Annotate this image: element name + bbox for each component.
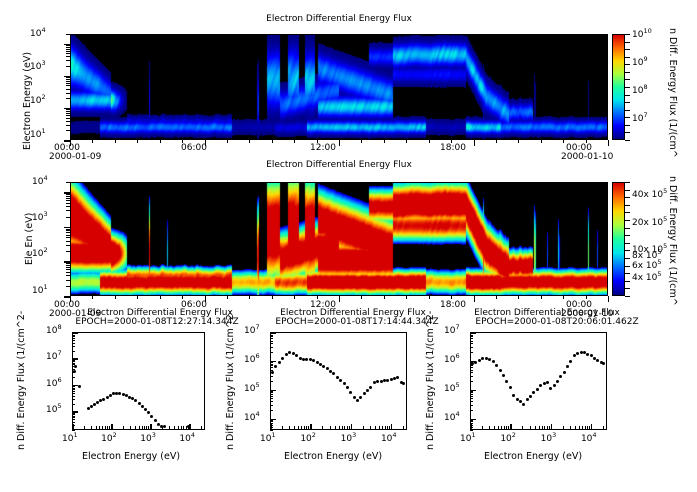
top-panel-ytick	[64, 108, 70, 110]
data-point	[90, 405, 93, 408]
top-panel-yminor-tick	[66, 56, 70, 57]
top-ytick-3: 103	[30, 62, 46, 72]
data-point	[386, 379, 389, 382]
spectrum-2-yminor-tick	[270, 396, 273, 397]
spectrum-3-yminor-tick	[470, 405, 473, 406]
middle-colorbar-tick	[625, 243, 630, 244]
middle-colorbar[interactable]	[612, 182, 625, 296]
middle-panel-yminor-tick	[66, 265, 70, 266]
spectrum-1-yminor-tick	[72, 389, 75, 390]
top-panel-xtick	[160, 140, 161, 143]
spectrum-2-yminor-tick	[270, 420, 273, 421]
middle-panel-xtick	[339, 296, 340, 302]
spectrum-3-xminor-tick	[522, 426, 523, 430]
middle-panel-yminor-tick	[66, 286, 70, 287]
middle-panel-yminor-tick	[66, 272, 70, 273]
spectrum-3-xminor-tick	[494, 426, 495, 430]
spectrum-3-yminor-tick	[470, 333, 473, 334]
top-panel-xtick	[429, 140, 430, 143]
spectrum-3-yminor-tick	[470, 335, 473, 336]
middle-panel-yminor-tick	[66, 206, 70, 207]
top-panel-xtick	[115, 140, 116, 143]
top-panel-xtick	[227, 140, 228, 143]
spectrum-1-yminor-tick	[72, 414, 75, 415]
data-point	[556, 380, 559, 383]
spectrum-3-xminor-tick	[508, 426, 509, 430]
spectrum-3-xminor-tick	[579, 426, 580, 430]
top-panel-yminor-tick	[66, 85, 70, 86]
spectrum-2-ylabel: n Diff. Energy Flux (1/(cm^2-	[225, 311, 236, 450]
middle-panel-xtick	[205, 296, 206, 302]
top-colorbar-tick	[625, 95, 630, 96]
middle-panel-xtick	[294, 296, 295, 299]
top-panel-xtick	[563, 140, 564, 143]
spectrum-3-xminor-tick	[535, 426, 536, 430]
spectrum-3-xminor-tick	[603, 426, 604, 430]
spectrum-2-yminor-tick	[270, 333, 273, 334]
spectrum-1-xminor-tick	[96, 426, 97, 430]
spectrum-3-yminor-tick	[470, 420, 473, 421]
middle-colorbar-tick	[625, 296, 630, 297]
middle-panel-xtick	[160, 296, 161, 299]
top-colorbar-tick	[625, 64, 630, 65]
top-colorbar-tick	[625, 102, 630, 103]
top-panel-xtick	[586, 140, 587, 143]
top-panel-yminor-tick	[66, 81, 70, 82]
middle-colorbar-tick	[625, 190, 630, 191]
middle-panel-xtick	[563, 296, 564, 299]
spectrum-3-xminor-tick	[587, 426, 588, 430]
top-panel-xtick	[317, 140, 318, 143]
middle-panel-xtick	[249, 296, 250, 299]
spectrum-1-yminor-tick	[72, 419, 75, 420]
top-panel-frame	[70, 34, 608, 140]
top-panel-yminor-tick	[66, 49, 70, 50]
middle-colorbar-tick	[625, 228, 630, 229]
spectrum-2-ytick-label: 106	[244, 355, 260, 365]
top-panel-ytick	[64, 76, 70, 78]
middle-panel-yminor-tick	[66, 182, 70, 183]
spectrum-1-xminor-tick	[105, 426, 106, 430]
top-panel-yminor-tick	[66, 47, 70, 48]
middle-colorbar-tick	[625, 235, 630, 236]
data-point	[339, 379, 342, 382]
spectrum-1-xminor-tick	[146, 426, 147, 430]
spectrum-3-xtick	[510, 424, 512, 430]
middle-panel-xtick	[137, 296, 138, 299]
spectrum-2-yminor-tick	[270, 336, 273, 337]
spectrum-3-yminor-tick	[470, 352, 473, 353]
middle-panel-xtick	[115, 296, 116, 299]
spectrum-1-xminor-tick	[99, 426, 100, 430]
data-point	[526, 398, 529, 401]
middle-panel-yminor-tick	[66, 245, 70, 246]
spectrum-3-ytick-label: 106	[444, 355, 460, 365]
spectrum-3-yminor-tick	[470, 394, 473, 395]
spectrum-1-xminor-tick	[178, 426, 179, 430]
top-panel-yminor-tick	[66, 93, 70, 94]
spectrum-3-xminor-tick	[544, 426, 545, 430]
top-panel-yminor-tick	[66, 89, 70, 90]
spectrum-2-yminor-tick	[270, 370, 273, 371]
spectrum-2-xtick-label: 104	[381, 434, 397, 444]
middle-panel-xtick	[406, 296, 407, 299]
top-xtick-3: 18:00	[440, 143, 466, 153]
top-colorbar-label-wrap: n Diff. Energy Flux (1/(cm^	[678, 28, 697, 39]
spectrum-1-yminor-tick	[72, 388, 75, 389]
middle-panel-yminor-tick	[66, 280, 70, 281]
spectrum-2-xtick	[351, 424, 353, 430]
spectrum-3-xminor-tick	[542, 426, 543, 430]
spectrum-3-yminor-tick	[470, 343, 473, 344]
top-cbtick-0: 1010	[632, 30, 652, 40]
spectrum-2-yminor-tick	[270, 365, 273, 366]
middle-panel-frame	[70, 182, 608, 296]
mid-ytick-2: 102	[32, 249, 48, 259]
spectrum-2-xminor-tick	[344, 426, 345, 430]
top-panel-xtick	[406, 140, 407, 143]
spectrum-3-xminor-tick	[582, 426, 583, 430]
spectrum-1-xminor-tick	[201, 426, 202, 430]
top-colorbar-label: n Diff. Energy Flux (1/(cm^	[667, 28, 678, 158]
top-panel-xtick	[384, 140, 385, 143]
spectrum-1-yminor-tick	[72, 360, 75, 361]
data-point	[326, 367, 329, 370]
spectrum-1-ytick-label: 105	[46, 405, 62, 415]
middle-panel-xtick	[451, 296, 452, 299]
spectrum-2-yminor-tick	[270, 338, 273, 339]
spectrum-2-xminor-tick	[389, 426, 390, 430]
spectrum-2-ytick-label: 107	[244, 326, 260, 336]
spectrum-3-ylabel: n Diff. Energy Flux (1/(cm^2-	[425, 311, 436, 450]
data-point	[343, 382, 346, 385]
spectrum-1-yminor-tick	[72, 393, 75, 394]
spectrum-1-xminor-tick	[162, 426, 163, 430]
top-colorbar-tick	[625, 110, 630, 111]
top-ytick-4: 104	[30, 29, 46, 39]
top-panel-yminor-tick	[66, 79, 70, 80]
spectrum-3-xminor-tick	[570, 426, 571, 430]
spectrum-2-yminor-tick	[270, 405, 273, 406]
spectrum-2-xminor-tick	[375, 426, 376, 430]
spectrum-3-xminor-tick	[589, 426, 590, 430]
spectrum-3-xminor-tick	[501, 426, 502, 430]
middle-panel-yminor-tick	[66, 267, 70, 268]
top-colorbar-tick	[625, 57, 630, 58]
spectrum-2-yminor-tick	[270, 394, 273, 395]
top-colorbar-tick	[625, 87, 630, 88]
data-point	[509, 386, 512, 389]
spectrum-3-yminor-tick	[470, 338, 473, 339]
data-point	[553, 384, 556, 387]
spectrum-2-xtick	[270, 424, 272, 430]
spectrum-2-xtick-label: 101	[260, 434, 276, 444]
middle-panel-yminor-tick	[66, 198, 70, 199]
middle-panel-title: Electron Differential Energy Flux	[70, 160, 608, 170]
middle-colorbar-tick	[625, 273, 630, 274]
spectrum-2-yminor-tick	[270, 341, 273, 342]
top-panel-xtick	[249, 140, 250, 143]
data-point	[144, 408, 147, 411]
spectrum-2-xminor-tick	[289, 426, 290, 430]
data-point	[478, 359, 481, 362]
top-colorbar-tick	[625, 34, 630, 35]
top-panel-yminor-tick	[66, 98, 70, 99]
spectrum-3-yminor-tick	[470, 398, 473, 399]
spectrum-3-yminor-tick	[470, 365, 473, 366]
middle-panel-yminor-tick	[66, 275, 70, 276]
top-panel-yminor-tick	[66, 66, 70, 67]
spectrum-3-xtick	[470, 424, 472, 430]
spectrum-3-xtick-label: 103	[541, 434, 557, 444]
spectrum-2-xminor-tick	[363, 426, 364, 430]
spectrum-2-xminor-tick	[335, 426, 336, 430]
middle-panel-ytick	[64, 192, 70, 194]
middle-colorbar-tick	[625, 182, 630, 183]
spectrum-2-xminor-tick	[379, 426, 380, 430]
spectrum-3-xminor-tick	[539, 426, 540, 430]
spectrum-1-plot-area[interactable]	[72, 332, 205, 430]
spectrum-3-yminor-tick	[470, 336, 473, 337]
top-colorbar-tick	[625, 42, 630, 43]
spectrum-3-yminor-tick	[470, 367, 473, 368]
spectrum-3-xminor-tick	[482, 426, 483, 430]
data-point	[346, 386, 349, 389]
spectrum-3-yminor-tick	[470, 362, 473, 363]
spectrum-3-ytick-label: 105	[444, 384, 460, 394]
spectrum-2-xminor-tick	[370, 426, 371, 430]
top-panel-xtick	[294, 140, 295, 143]
top-panel-yminor-tick	[66, 121, 70, 122]
spectrum-2-xminor-tick	[301, 426, 302, 430]
middle-panel-yminor-tick	[66, 241, 70, 242]
top-panel-yminor-tick	[66, 83, 70, 84]
spectrum-1-yminor-tick	[72, 422, 75, 423]
spectrum-1-yminor-tick	[72, 417, 75, 418]
data-point	[278, 361, 281, 364]
spectrum-1-xminor-tick	[174, 426, 175, 430]
top-panel-xtick	[339, 140, 340, 146]
spectrum-3-yminor-tick	[470, 381, 473, 382]
spectrum-3-yminor-tick	[470, 341, 473, 342]
middle-panel-yminor-tick	[66, 229, 70, 230]
data-point	[87, 407, 90, 410]
spectrum-2-yminor-tick	[270, 391, 273, 392]
spectrum-3-xminor-tick	[530, 426, 531, 430]
top-cbtick-3: 107	[632, 114, 648, 124]
middle-colorbar-tick	[625, 250, 630, 251]
middle-colorbar-label: n Diff. Energy Flux (1/(cm^	[667, 176, 678, 306]
middle-panel-yminor-tick	[66, 203, 70, 204]
spectrum-1-xminor-tick	[107, 426, 108, 430]
middle-panel-yminor-tick	[66, 237, 70, 238]
top-cbtick-1: 109	[632, 58, 648, 68]
spectrum-1-xminor-tick	[84, 426, 85, 430]
spectrum-1-xtick-label: 102	[101, 434, 117, 444]
spectrum-1-xminor-tick	[130, 426, 131, 430]
spectrum-3-xminor-tick	[506, 426, 507, 430]
spectrum-3-yminor-tick	[470, 410, 473, 411]
spectrum-2-yminor-tick	[270, 335, 273, 336]
spectrum-2-xminor-tick	[298, 426, 299, 430]
top-colorbar-tick	[625, 125, 630, 126]
mid-ytick-1: 101	[32, 286, 48, 296]
spectrum-3-xminor-tick	[549, 426, 550, 430]
spectrum-3-yminor-tick	[470, 396, 473, 397]
spectrum-1-xtick-label: 104	[179, 434, 195, 444]
middle-panel-xtick	[541, 296, 542, 299]
spectrum-3-xminor-tick	[504, 426, 505, 430]
spectrum-2-ytick-label: 104	[244, 413, 260, 423]
middle-colorbar-label-wrap: n Diff. Energy Flux (1/(cm^	[678, 176, 697, 187]
spectrum-1-xminor-tick	[169, 426, 170, 430]
top-colorbar-tick	[625, 132, 630, 133]
top-ytick-1: 101	[30, 130, 46, 140]
middle-panel-xtick	[70, 296, 71, 302]
spectrum-3-epoch: EPOCH=2000-01-08T20:06:01.462Z	[462, 317, 652, 327]
top-panel-xtick	[474, 140, 475, 146]
spectrum-1-yminor-tick	[72, 363, 75, 364]
spectrum-2-xtick-label: 103	[341, 434, 357, 444]
middle-colorbar-tick	[625, 220, 630, 221]
spectrum-2-xminor-tick	[322, 426, 323, 430]
data-point	[563, 371, 566, 374]
spectrum-1-ylabel: n Diff. Energy Flux (1/(cm^2-	[16, 311, 27, 450]
top-panel-xtick	[361, 140, 362, 143]
spectrum-1-epoch: EPOCH=2000-01-08T12:27:14.344Z	[62, 317, 252, 327]
middle-panel-yminor-tick	[66, 196, 70, 197]
spectrum-3-xminor-tick	[547, 426, 548, 430]
middle-panel-xtick	[227, 296, 228, 299]
spectrum-1-xminor-tick	[102, 426, 103, 430]
spectrum-1-xtick	[150, 424, 152, 430]
top-panel-xtick	[70, 140, 71, 146]
top-colorbar-tick	[625, 79, 630, 80]
data-point	[499, 369, 502, 372]
data-point	[138, 402, 141, 405]
mid-cbtick-0: 40x 105	[632, 190, 667, 200]
middle-panel-xtick	[92, 296, 93, 299]
spectrum-1-xminor-tick	[135, 426, 136, 430]
spectrum-1-ylabel-wrap: n Diff. Energy Flux (1/(cm^2-	[16, 450, 155, 461]
middle-panel-ytick	[64, 261, 70, 263]
spectrum-1-yminor-tick	[72, 336, 75, 337]
spectrum-2-xminor-tick	[282, 426, 283, 430]
middle-colorbar-tick	[625, 258, 630, 259]
spectrum-1-yminor-tick	[72, 372, 75, 373]
spectrum-1-yminor-tick	[72, 361, 75, 362]
middle-panel-xtick	[361, 296, 362, 299]
spectrum-1-xminor-tick	[144, 426, 145, 430]
top-panel-yminor-tick	[66, 118, 70, 119]
spectrum-1-xminor-tick	[123, 426, 124, 430]
top-panel-yminor-tick	[66, 125, 70, 126]
spectrum-3-xtick	[591, 424, 593, 430]
spectrum-1-xminor-tick	[139, 426, 140, 430]
spectrum-1-xtick-label: 101	[62, 434, 78, 444]
spectrum-1-yminor-tick	[72, 351, 75, 352]
top-panel-xtick	[451, 140, 452, 143]
mid-ytick-3: 103	[32, 213, 48, 223]
spectrum-2-yminor-tick	[270, 347, 273, 348]
spectrum-3-xtick-label: 101	[460, 434, 476, 444]
spectrum-2-yminor-tick	[270, 398, 273, 399]
data-point	[312, 359, 315, 362]
spectrum-3-plot-area[interactable]	[470, 332, 607, 430]
spectrum-2-yminor-tick	[270, 367, 273, 368]
spectrum-2-yminor-tick	[270, 381, 273, 382]
top-panel-yminor-tick	[66, 130, 70, 131]
top-panel-yminor-tick	[66, 34, 70, 35]
top-colorbar-tick	[625, 72, 630, 73]
spectrum-2-yminor-tick	[270, 352, 273, 353]
spectrum-2-yminor-tick	[270, 401, 273, 402]
middle-colorbar-tick	[625, 197, 630, 198]
spectrum-2-yminor-tick	[270, 392, 273, 393]
spectrum-2-xminor-tick	[387, 426, 388, 430]
spectrum-2-ytick-label: 105	[244, 384, 260, 394]
top-colorbar[interactable]	[612, 34, 625, 140]
spectrum-3-xminor-tick	[563, 426, 564, 430]
data-point	[356, 399, 359, 402]
spectrum-3-yminor-tick	[470, 376, 473, 377]
spectrum-1-yminor-tick	[72, 346, 75, 347]
spectrum-2-yminor-tick	[270, 362, 273, 363]
spectrum-3-xminor-tick	[489, 426, 490, 430]
spectrum-1-yminor-tick	[72, 364, 75, 365]
middle-colorbar-tick	[625, 266, 630, 267]
spectrum-2-xminor-tick	[349, 426, 350, 430]
spectrum-2-yminor-tick	[270, 410, 273, 411]
spectrum-3-yminor-tick	[470, 372, 473, 373]
spectrum-1-yminor-tick	[72, 399, 75, 400]
spectrum-3-yminor-tick	[470, 421, 473, 422]
middle-panel-yminor-tick	[66, 235, 70, 236]
mid-cbtick-1: 20x 105	[632, 218, 667, 228]
top-panel-yminor-tick	[66, 111, 70, 112]
spectrum-2-xminor-tick	[403, 426, 404, 430]
middle-panel-yminor-tick	[66, 194, 70, 195]
data-point	[576, 352, 579, 355]
top-panel-xtick	[272, 140, 273, 143]
spectrum-3-xtick-label: 104	[581, 434, 597, 444]
middle-panel-xtick	[272, 296, 273, 299]
top-panel-xtick	[496, 140, 497, 143]
spectrum-1-yminor-tick	[72, 366, 75, 367]
top-xtick-2: 12:00	[310, 143, 336, 153]
data-point	[529, 395, 532, 398]
middle-panel-yminor-tick	[66, 232, 70, 233]
middle-panel-yminor-tick	[66, 263, 70, 264]
spectrum-3-yminor-tick	[470, 370, 473, 371]
top-panel-xtick	[608, 140, 609, 146]
middle-panel-xtick	[586, 296, 587, 299]
spectrum-1-yminor-tick	[72, 391, 75, 392]
middle-panel-yminor-tick	[66, 217, 70, 218]
spectrum-3-xminor-tick	[498, 426, 499, 430]
middle-panel-yminor-tick	[66, 230, 70, 231]
middle-panel-xtick	[182, 296, 183, 299]
spectrum-3-xtick-label: 102	[500, 434, 516, 444]
data-point	[376, 380, 379, 383]
data-point	[141, 405, 144, 408]
middle-panel-ytick	[64, 227, 70, 229]
top-panel-ytick	[64, 44, 70, 46]
spectrum-1-xtick-label: 103	[140, 434, 156, 444]
top-panel-yminor-tick	[66, 77, 70, 78]
top-panel-title: Electron Differential Energy Flux	[70, 14, 608, 24]
spectrum-2-xminor-tick	[342, 426, 343, 430]
